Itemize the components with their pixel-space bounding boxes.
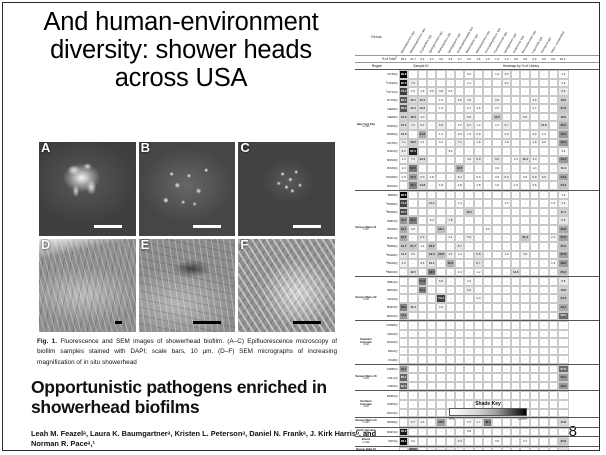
heatmap-cell: - xyxy=(474,234,483,243)
heatmap-cell: - xyxy=(502,347,511,356)
heatmap-cell: 6.0 xyxy=(520,113,529,122)
heatmap-cell: - xyxy=(464,330,473,339)
heatmap-cell: - xyxy=(539,347,548,356)
heatmap-cell: - xyxy=(520,70,529,79)
heatmap-cell: - xyxy=(483,277,492,286)
heatmap-cell: - xyxy=(455,355,464,364)
heatmap-cell: 11.9 xyxy=(558,164,569,173)
heatmap-cell: 8.8 xyxy=(558,216,569,225)
heatmap-cell: - xyxy=(436,79,445,88)
table-row: BSK1Q34.7-6.9--2.4-5.9-----21.2--2.437.6 xyxy=(355,234,599,243)
heatmap-cell: - xyxy=(408,199,417,208)
heatmap-cell: - xyxy=(520,96,529,105)
heatmap-cell: - xyxy=(511,234,520,243)
heatmap-cell: - xyxy=(455,156,464,165)
heatmap-cell: - xyxy=(502,181,511,190)
heatmap-cell: - xyxy=(549,113,558,122)
heatmap-cell: - xyxy=(408,355,417,364)
shade-key-title: Shade Key xyxy=(449,401,527,407)
heatmap-cell: - xyxy=(511,251,520,260)
heatmap-cell: - xyxy=(492,79,501,88)
heatmap-cell: - xyxy=(539,338,548,347)
heatmap-cell: - xyxy=(455,113,464,122)
heatmap-cell: - xyxy=(539,216,548,225)
heatmap-cell: - xyxy=(408,234,417,243)
heatmap-cell: 10.4 xyxy=(408,303,417,312)
heatmap-cell: - xyxy=(502,225,511,234)
heatmap-cell: - xyxy=(502,428,511,437)
heatmap-cell: 16.0 xyxy=(399,113,408,122)
heatmap-cell: - xyxy=(446,130,455,139)
heatmap-cells: ------------------ xyxy=(399,338,599,347)
heatmap-cells: ------------------ xyxy=(399,330,599,339)
table-row: New York Cityn=104NSP0Q15.17.06.3-6.8-1.… xyxy=(355,121,599,130)
heatmap-cell: - xyxy=(539,428,548,437)
heatmap-cell: - xyxy=(520,347,529,356)
heatmap-cell: - xyxy=(511,79,520,88)
pct-total-cell: 3.6 xyxy=(436,57,445,61)
table-row: 1B000Q21.721.71.423.2--8.7----------25.2 xyxy=(355,242,599,251)
heatmap-cell: - xyxy=(520,208,529,217)
genus-label-3: Sphingomonas spp. xyxy=(427,9,436,55)
heatmap-cell: - xyxy=(539,321,548,330)
heatmap-cells: -10.5-48.8--2.3-1.2---11.6----25.6 xyxy=(399,268,599,277)
heatmap-cell: - xyxy=(549,251,558,260)
heatmap-cell: - xyxy=(520,147,529,156)
heatmap-cell: - xyxy=(549,96,558,105)
heatmap-cell: - xyxy=(492,355,501,364)
region-cell xyxy=(355,156,377,165)
heatmap-cell: - xyxy=(408,70,417,79)
heatmap-cell: 33.3 xyxy=(558,303,569,312)
heatmap-cell: - xyxy=(520,225,529,234)
heatmap-cell: - xyxy=(483,355,492,364)
heatmap-cell: - xyxy=(427,139,436,148)
heatmap-cell: - xyxy=(492,312,501,321)
heatmap-cell: - xyxy=(511,286,520,295)
table-row: V0MKQ42.1----------------57.9 xyxy=(355,365,599,374)
heatmap-cell: 1.0 xyxy=(511,181,520,190)
heatmap-cell: - xyxy=(436,382,445,391)
heatmap-cell: - xyxy=(492,259,501,268)
heatmap-cell: - xyxy=(520,216,529,225)
heatmap-cell: - xyxy=(520,139,529,148)
region-cell xyxy=(355,347,377,356)
heatmap-cell: - xyxy=(474,79,483,88)
heatmap-cell: - xyxy=(436,234,445,243)
figure-panel-e: E xyxy=(139,239,236,333)
sample-id-cell: BK00Q xyxy=(377,225,399,234)
heatmap-cell: - xyxy=(511,365,520,374)
region-cell xyxy=(355,216,377,225)
heatmap-cell: - xyxy=(502,312,511,321)
heatmap-cell: - xyxy=(492,391,501,400)
pct-values-row: 29.121.75.24.13.63.52.72.01.81.61.31.00.… xyxy=(399,57,567,61)
heatmap-cell: 6.8 xyxy=(436,121,445,130)
heatmap-cell: 2.9 xyxy=(474,130,483,139)
heatmap-cell: 1.4 xyxy=(549,199,558,208)
shade-key-min: 0% xyxy=(449,417,454,421)
heatmap-cell: - xyxy=(549,268,558,277)
genus-label-1: Methylobacterium spp. xyxy=(408,9,417,55)
heatmap-cell: 1.3 xyxy=(455,251,464,260)
heatmap-cell: - xyxy=(427,312,436,321)
heatmap-cell: 17.1 xyxy=(558,208,569,217)
heatmap-cell: 0.6 xyxy=(446,87,455,96)
heatmap-cell: - xyxy=(446,338,455,347)
genus-label-5: Sphingopyxis spp. xyxy=(446,9,455,55)
figure-panel-c: C xyxy=(238,142,335,236)
region-cell xyxy=(355,87,377,96)
heatmap-cell: 26.1 xyxy=(436,225,445,234)
heatmap-cell: 30.8 xyxy=(446,259,455,268)
heatmap-cell: - xyxy=(549,409,558,418)
heatmap-cell: - xyxy=(530,277,539,286)
heatmap-cell: - xyxy=(520,79,529,88)
heatmap-cell: - xyxy=(408,400,417,409)
sample-id-cell: D0M1Q xyxy=(377,391,399,400)
shade-key-max: 100% xyxy=(518,417,527,421)
heatmap-cell: 23.2 xyxy=(427,242,436,251)
pct-total-cell: 3.5 xyxy=(446,57,455,61)
sample-id-cell: B0P2Q xyxy=(377,216,399,225)
sample-id-cell: V0J0Q xyxy=(377,355,399,364)
panel-label-c: C xyxy=(240,142,249,155)
heatmap-cell: - xyxy=(549,365,558,374)
pct-label-sup: 1 xyxy=(396,56,397,59)
heatmap-cell: - xyxy=(455,330,464,339)
heatmap-cell: - xyxy=(446,294,455,303)
heatmap-cell: - xyxy=(502,365,511,374)
heatmap-cell: 1.8 xyxy=(455,181,464,190)
heatmap-cell: - xyxy=(427,303,436,312)
heatmap-cell: - xyxy=(418,365,427,374)
heatmap-cell: 34.7 xyxy=(399,234,408,243)
heatmap-cell: - xyxy=(539,104,548,113)
heatmap-cell: - xyxy=(474,191,483,200)
heatmap-cell: - xyxy=(399,268,408,277)
heatmap-cell: - xyxy=(530,373,539,382)
heatmap-cell: - xyxy=(446,373,455,382)
heatmap-cell: 1.3 xyxy=(399,164,408,173)
table-row: NSW0Q0.937.66.01.8--6.4-0.9-0.96.3-0.66.… xyxy=(355,173,599,182)
region-cell xyxy=(355,303,377,312)
heatmap-cell: 4.6 xyxy=(436,87,445,96)
table-row: NSX0Q1.352.5----32.5---0.6---1.0--11.9 xyxy=(355,164,599,173)
heatmap-cell: - xyxy=(418,79,427,88)
heatmap-cell: - xyxy=(399,330,408,339)
heatmap-cell: - xyxy=(464,225,473,234)
heatmap-cell: 23.8 xyxy=(436,251,445,260)
heatmap-cells: 33.73.2--26.1----2.2-------33.8 xyxy=(399,225,599,234)
heatmap-cell: - xyxy=(511,70,520,79)
heatmap-cell: - xyxy=(446,164,455,173)
heatmap-cell: - xyxy=(455,347,464,356)
heatmap-cell: - xyxy=(427,418,436,427)
heatmap-cell: - xyxy=(549,373,558,382)
heatmap-cell: 6.7 xyxy=(464,121,473,130)
heatmap-cell: 1.4 xyxy=(436,104,445,113)
sample-id-cell: V0LXQ xyxy=(377,373,399,382)
pct-total-cell: 0.6 xyxy=(530,57,539,61)
heatmap-cell: 57.9 xyxy=(558,365,569,374)
heatmap-cell: 6.0 xyxy=(418,173,427,182)
genus-label-11: Sphingobium spp. xyxy=(502,9,511,55)
heatmap-cell: 2.7 xyxy=(520,437,529,446)
heatmap-cell: - xyxy=(530,347,539,356)
region-cell xyxy=(355,130,377,139)
genus-label-14: Legionella spp. xyxy=(530,9,539,55)
heatmap-cells: 3.956.4-4.55.46.64.53.91.8--0.9-----11.7 xyxy=(399,447,599,451)
sample-id-cell: BKK0Q xyxy=(377,312,399,321)
heatmap-cell: 1.6 xyxy=(436,96,445,105)
heatmap-cell: - xyxy=(492,347,501,356)
heatmap-cell: - xyxy=(427,208,436,217)
heatmap-cell: 1.8 xyxy=(436,181,445,190)
heatmap-cell: - xyxy=(427,164,436,173)
heatmap-cell: - xyxy=(511,428,520,437)
heatmap-cell: - xyxy=(549,147,558,156)
sample-id-cell: D0L0Q xyxy=(377,347,399,356)
heatmap-cell: - xyxy=(520,321,529,330)
figure-panel-b: B xyxy=(139,142,236,236)
sample-id-cell: NSP0Q xyxy=(377,121,399,130)
heatmap-cell: - xyxy=(539,294,548,303)
table-row: 1B0C0Q-10.5-48.8--2.3-1.2---11.6----25.6 xyxy=(355,268,599,277)
heatmap-cell: - xyxy=(483,87,492,96)
table-row: B0P2Q40.750.5-3.4-7.8-----------8.8 xyxy=(355,216,599,225)
heatmap-cell: - xyxy=(427,437,436,446)
heatmap-cell: - xyxy=(520,259,529,268)
sample-id-cell: D0P0Q xyxy=(377,400,399,409)
heatmap-cell: 1.4 xyxy=(539,130,548,139)
heatmap-cell: 2.3 xyxy=(455,268,464,277)
heatmap-cell: - xyxy=(549,191,558,200)
heatmap-cell: 10.1 xyxy=(427,259,436,268)
heatmap-cell: - xyxy=(539,113,548,122)
heatmap-cell: 1.2 xyxy=(455,121,464,130)
heatmap-cell: 2.9 xyxy=(530,130,539,139)
heatmap-cell: 5.9 xyxy=(464,234,473,243)
heatmap-cell: - xyxy=(418,391,427,400)
heatmap-cell: - xyxy=(539,268,548,277)
heatmap-cell: - xyxy=(511,147,520,156)
heatmap-cell: - xyxy=(418,208,427,217)
figure-caption: Fig. 1. Fluorescence and SEM images of s… xyxy=(37,337,337,368)
heatmap-cell: - xyxy=(539,355,548,364)
panel-label-b: B xyxy=(141,142,150,155)
heatmap-cells: 90.2------0.8---------- xyxy=(399,428,599,437)
sample-id-cell: 1BN00Q xyxy=(377,208,399,217)
heatmap-cell: 65.6 xyxy=(399,104,408,113)
heatmap-cell: - xyxy=(427,382,436,391)
heatmap-cell: 66.1 xyxy=(399,96,408,105)
heatmap-cell: - xyxy=(502,87,511,96)
heatmap-cell: - xyxy=(446,428,455,437)
heatmap-cell: - xyxy=(446,347,455,356)
heatmap-cell: - xyxy=(549,130,558,139)
heatmap-cell: - xyxy=(520,365,529,374)
table-row: D0M1Q------------------ xyxy=(355,391,599,400)
heatmap-cell: 34.6 xyxy=(558,173,569,182)
heatmap-cell: 1.5 xyxy=(511,156,520,165)
heatmap-cell: - xyxy=(474,87,483,96)
heatmap-cell: - xyxy=(455,234,464,243)
heatmap-cell: 33.7 xyxy=(399,225,408,234)
heatmap-cell: - xyxy=(464,321,473,330)
heatmap-cell: - xyxy=(520,242,529,251)
heatmap-cell: - xyxy=(427,113,436,122)
heatmap-cell: - xyxy=(539,391,548,400)
heatmap-cell: - xyxy=(502,191,511,200)
heatmap-cell: - xyxy=(539,437,548,446)
heatmap-cell: 9.0 xyxy=(492,156,501,165)
heatmap-cell: - xyxy=(418,321,427,330)
heatmap-cell: - xyxy=(418,312,427,321)
heatmap-cell: - xyxy=(474,355,483,364)
heatmap-cell: - xyxy=(464,294,473,303)
sample-id-cell: 1B0C0Q xyxy=(377,268,399,277)
heatmap-cell: - xyxy=(530,242,539,251)
heatmap-cell: - xyxy=(455,294,464,303)
heatmap-cell: 2.2 xyxy=(558,79,569,88)
sample-id-cell: B0S0Q xyxy=(377,418,399,427)
heatmap-cell: - xyxy=(492,428,501,437)
heatmap-cells: 0.937.66.01.8--6.4-0.9-0.96.3-0.66.96.9-… xyxy=(399,173,599,182)
heatmap-cell: - xyxy=(446,330,455,339)
heatmap-by-library-header: Heatmap by % of Library xyxy=(443,63,599,69)
heatmap-cell: - xyxy=(492,147,501,156)
heatmap-cell: 8.8 xyxy=(558,277,569,286)
region-cell: Denver Metro #2n=33 xyxy=(355,294,377,303)
heatmap-cell: - xyxy=(446,391,455,400)
heatmap-cell: 49.2 xyxy=(399,303,408,312)
heatmap-cell: - xyxy=(399,391,408,400)
heatmap-cell: - xyxy=(558,347,569,356)
heatmap-cell: - xyxy=(464,338,473,347)
table-row: 1BS00Q74.3--11.1--1.4----1.4----1.44.3 xyxy=(355,199,599,208)
heatmap-cell: - xyxy=(436,347,445,356)
heatmap-cell: - xyxy=(474,321,483,330)
heatmap-cell: 40.0 xyxy=(558,130,569,139)
heatmap-cells: 15.17.06.3-6.8-1.26.71.2-1.26.7---10.9-3… xyxy=(399,121,599,130)
heatmap-cell: - xyxy=(474,225,483,234)
heatmap-cell: - xyxy=(492,338,501,347)
heatmap-cell: - xyxy=(427,191,436,200)
table-row: V0J0Q------------------ xyxy=(355,355,599,364)
heatmap-cell: - xyxy=(492,286,501,295)
heatmap-cells: 11.53.9-19.323.83.61.3-9.8--1.9-3.9---37… xyxy=(399,251,599,260)
figure-panel-d: D xyxy=(39,239,136,333)
heatmap-cell: - xyxy=(483,156,492,165)
heatmap-cell: - xyxy=(483,70,492,79)
heatmap-cell: 19.6 xyxy=(408,139,417,148)
genus-label-13: Brevundimonas spp. xyxy=(520,9,529,55)
heatmap-cell: 90.2 xyxy=(399,428,408,437)
heatmap-cell: 21.9 xyxy=(558,104,569,113)
heatmap-cell: 3.2 xyxy=(408,225,417,234)
heatmap-cell: - xyxy=(483,437,492,446)
heatmap-cells: ------------------ xyxy=(399,347,599,356)
heatmap-cell: 20.0 xyxy=(492,113,501,122)
heatmap-cell: - xyxy=(483,321,492,330)
heatmap-table: Genus Mycobacterium spp.Methylobacterium… xyxy=(355,9,599,451)
heatmap-cell: - xyxy=(399,286,408,295)
panel-label-f: F xyxy=(240,239,248,252)
heatmap-cell: - xyxy=(408,409,417,418)
heatmap-cell: - xyxy=(474,147,483,156)
region-cell xyxy=(355,312,377,321)
heatmap-cell: - xyxy=(549,338,558,347)
region-cell: North Carolinan=19 xyxy=(355,428,377,437)
heatmap-cell: 96.1 xyxy=(399,437,408,446)
heatmap-cell: - xyxy=(436,113,445,122)
heatmap-cell: - xyxy=(408,191,417,200)
heatmap-cell: - xyxy=(492,225,501,234)
pct-total-cell: 1.3 xyxy=(492,57,501,61)
table-row: NSK0Q6.687.2---3.2-----------3.2 xyxy=(355,147,599,156)
heatmap-cell: - xyxy=(520,181,529,190)
heatmap-cells: 70.7------18.7---------17.1 xyxy=(399,208,599,217)
pct-total-cell: 1.8 xyxy=(474,57,483,61)
heatmap-cell: - xyxy=(483,191,492,200)
heatmap-cell: 6.3 xyxy=(418,121,427,130)
heatmap-cell: - xyxy=(483,286,492,295)
pct-total-cell: 4.1 xyxy=(427,57,436,61)
heatmap-cell: - xyxy=(539,242,548,251)
figure-panel-a: A xyxy=(39,142,136,236)
heatmap-cell: - xyxy=(558,428,569,437)
region-header: Region xyxy=(355,63,399,69)
heatmap-cell: - xyxy=(511,294,520,303)
heatmap-cell: - xyxy=(483,164,492,173)
heatmap-cells: 1.57.513.4----4.59.0-9.0-1.510.43.0--40.… xyxy=(399,156,599,165)
table-row: NYH0Q66.113.113.1-1.6-4.64.6--5.5---4.5-… xyxy=(355,96,599,105)
heatmap-cell: - xyxy=(530,225,539,234)
heatmap-cell: 8.6 xyxy=(558,87,569,96)
heatmap-cell: - xyxy=(502,373,511,382)
heatmap-cell: - xyxy=(483,139,492,148)
panel-label-a: A xyxy=(41,142,50,155)
heatmap-cell: - xyxy=(427,130,436,139)
heatmap-cell: - xyxy=(474,70,483,79)
heatmap-cell: - xyxy=(483,312,492,321)
region-cell: Illinoisn=112 xyxy=(355,437,377,446)
heatmap-cell: - xyxy=(520,104,529,113)
heatmap-cell: 2.2 xyxy=(464,277,473,286)
heatmap-cell: - xyxy=(483,242,492,251)
heatmap-cell: - xyxy=(549,447,558,451)
heatmap-cells: 76.21.61.63.04.60.6-----------8.6 xyxy=(399,87,599,96)
heatmap-cell: - xyxy=(418,447,427,451)
heatmap-cell: 6.6 xyxy=(399,147,408,156)
heatmap-cell: - xyxy=(502,437,511,446)
heatmap-cell: 7.0 xyxy=(408,121,417,130)
heatmap-cell: - xyxy=(427,365,436,374)
heatmap-cell: - xyxy=(539,330,548,339)
heatmap-cell: 1.1 xyxy=(464,79,473,88)
heatmap-cell: - xyxy=(511,199,520,208)
heatmap-cell: - xyxy=(502,104,511,113)
heatmap-cell: - xyxy=(492,251,501,260)
sample-id-cell: NST0Q xyxy=(377,139,399,148)
heatmap-cell: 6.0 xyxy=(464,113,473,122)
sample-id-cell: BSP4Q xyxy=(377,303,399,312)
sample-id-cell: NSW0Q xyxy=(377,173,399,182)
heatmap-cell: - xyxy=(455,303,464,312)
heatmap-cell: 11.6 xyxy=(511,268,520,277)
heatmap-cell: - xyxy=(464,191,473,200)
